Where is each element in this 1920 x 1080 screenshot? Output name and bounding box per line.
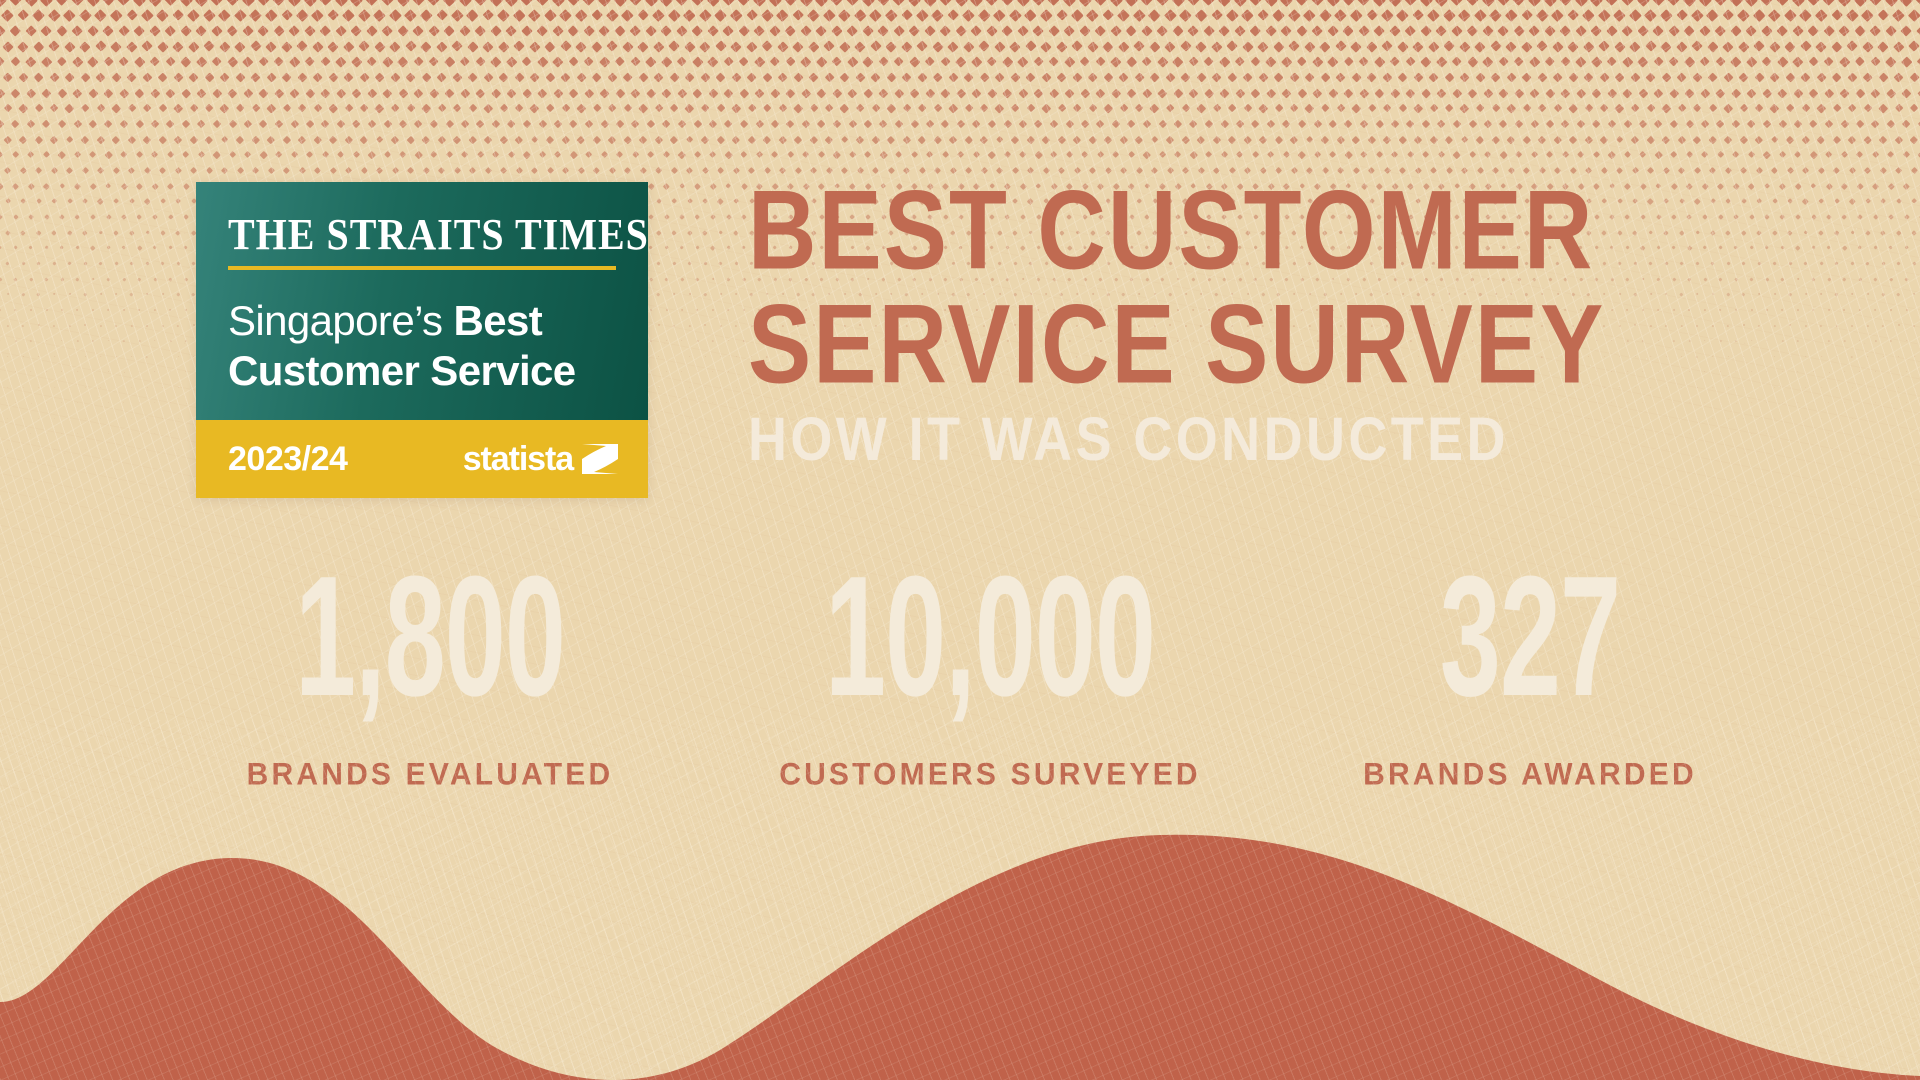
award-claim-best: Best — [454, 297, 543, 344]
headline-block: BEST CUSTOMER SERVICE SURVEY HOW IT WAS … — [748, 176, 1868, 466]
statista-logo: statista — [463, 440, 620, 479]
award-badge-body: THE STRAITS TIMES Singapore’s Best Custo… — [196, 182, 648, 420]
award-year: 2023/24 — [228, 440, 347, 479]
wave-shape — [0, 720, 1920, 1080]
stat-value: 10,000 — [730, 551, 1251, 722]
award-claim: Singapore’s Best Customer Service — [228, 296, 616, 395]
infographic-canvas: THE STRAITS TIMES Singapore’s Best Custo… — [0, 0, 1920, 1080]
award-badge: THE STRAITS TIMES Singapore’s Best Custo… — [196, 182, 648, 498]
award-claim-prefix: Singapore’s — [228, 297, 454, 344]
award-badge-footer: 2023/24 statista — [196, 420, 648, 498]
statista-logo-icon — [580, 442, 620, 476]
straits-times-masthead: THE STRAITS TIMES — [228, 212, 616, 257]
headline-line-2: SERVICE SURVEY — [748, 290, 1902, 400]
masthead-rule — [228, 266, 616, 270]
headline-line-1: BEST CUSTOMER — [748, 176, 1902, 286]
stat-value: 1,800 — [170, 551, 691, 722]
stat-value: 327 — [1288, 551, 1772, 722]
statista-wordmark: statista — [463, 440, 573, 479]
headline-subtitle: HOW IT WAS CONDUCTED — [748, 404, 1868, 475]
wave-svg — [0, 720, 1920, 1080]
award-claim-customer-service: Customer Service — [228, 347, 576, 394]
